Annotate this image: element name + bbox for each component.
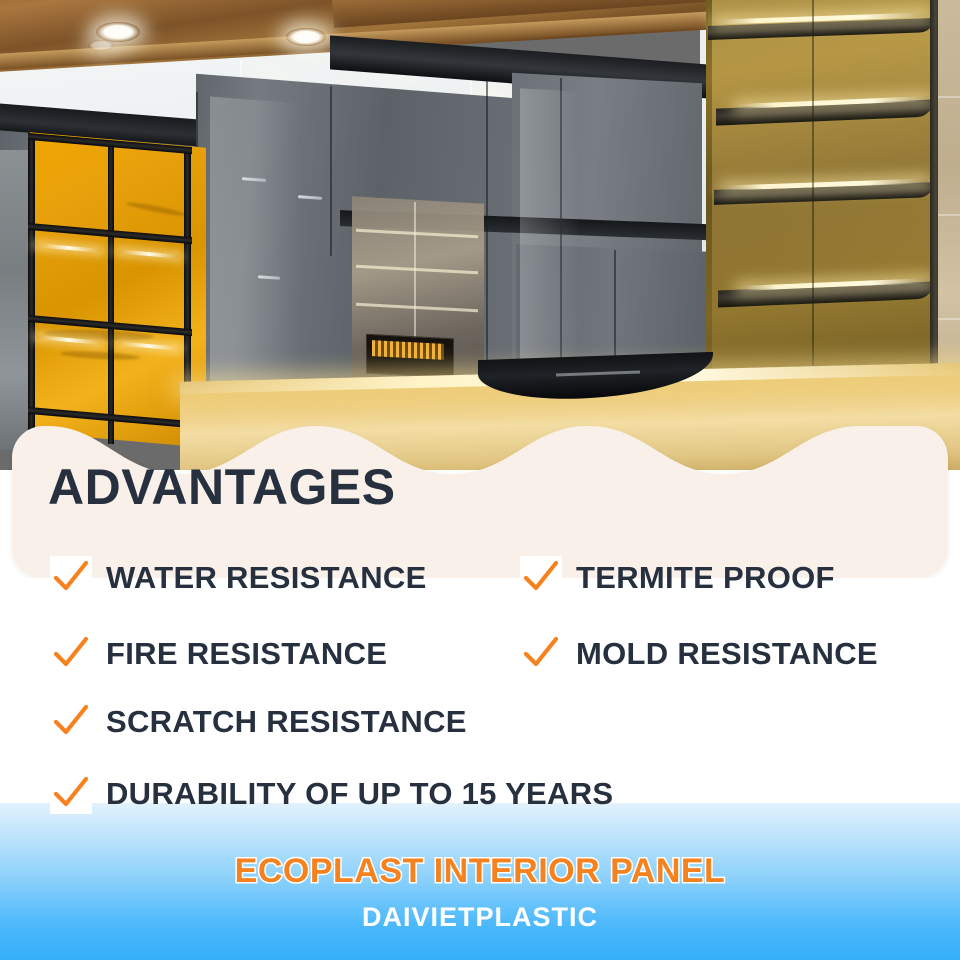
marble-seam [938,214,960,216]
check-icon [521,557,561,597]
feature-label: MOLD RESISTANCE [576,638,878,669]
mirror-reflection-line [414,202,416,342]
feature-label: WATER RESISTANCE [106,562,427,593]
check-icon [521,633,561,673]
feature-item-scratch-resistance: SCRATCH RESISTANCE [50,700,467,742]
check-icon [51,633,91,673]
check-icon-badge [520,632,562,674]
check-icon-badge [50,700,92,742]
cabinet-gloss-highlight [210,97,300,424]
brand-name: DAIVIETPLASTIC [0,902,960,933]
feature-label: FIRE RESISTANCE [106,638,387,669]
cabinet-gloss-highlight [520,88,580,391]
cabinet-grid-bar [28,140,35,441]
marble-seam [938,318,960,320]
cabinet-grid-bar [108,146,114,445]
check-icon-badge [520,556,562,598]
poster-canvas: ADVANTAGES WATER RESISTANCE TERMITE PROO… [0,0,960,960]
cabinet-seam [330,86,332,256]
feature-item-termite-proof: TERMITE PROOF [520,556,835,598]
feature-item-fire-resistance: FIRE RESISTANCE [50,632,387,674]
features-white-area [0,578,960,803]
ceiling-spotlight-reflection [88,40,114,51]
check-icon [51,701,91,741]
shelf-divider [812,0,814,420]
ceiling-spotlight [286,28,326,46]
shelf-back-glow [712,0,932,420]
feature-item-mold-resistance: MOLD RESISTANCE [520,632,878,674]
ceiling-spotlight [96,22,140,42]
feature-item-water-resistance: WATER RESISTANCE [50,556,427,598]
check-icon [51,557,91,597]
feature-label: SCRATCH RESISTANCE [106,706,467,737]
feature-item-durability: DURABILITY OF UP TO 15 YEARS [50,772,613,814]
feature-label: DURABILITY OF UP TO 15 YEARS [106,778,613,809]
wall-marble-right [938,0,960,424]
product-name: ECOPLAST INTERIOR PANEL [0,852,960,891]
kitchen-photo [0,0,960,470]
check-icon [51,773,91,813]
check-icon-badge [50,632,92,674]
page-title: ADVANTAGES [48,462,396,512]
check-icon-badge [50,772,92,814]
feature-label: TERMITE PROOF [576,562,835,593]
marble-seam [938,96,960,98]
check-icon-badge [50,556,92,598]
